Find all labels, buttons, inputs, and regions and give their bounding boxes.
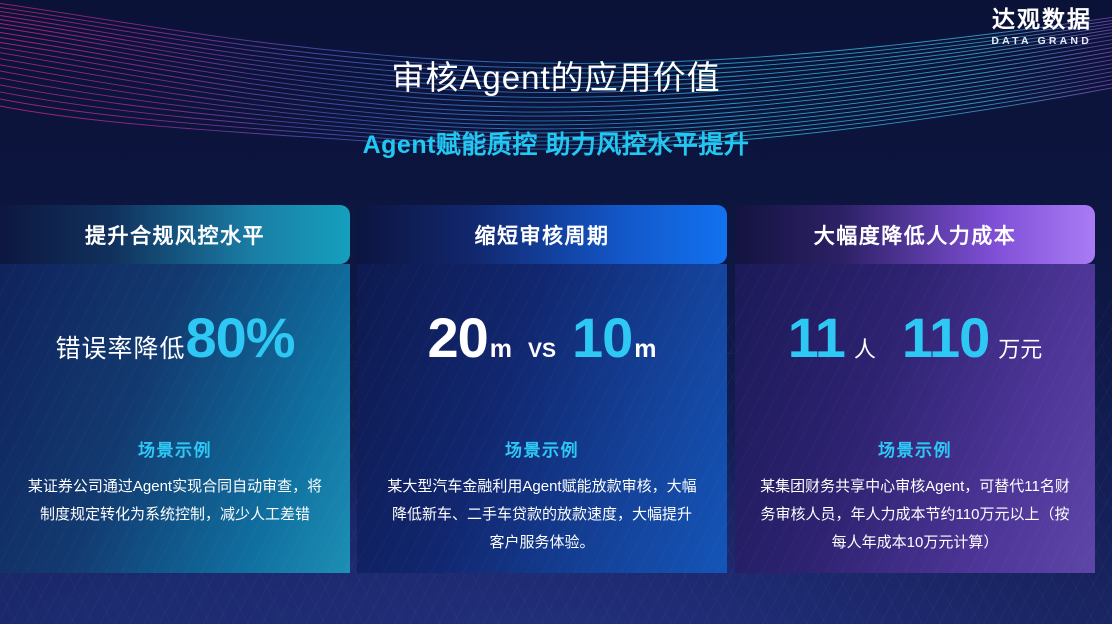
brand-logo: 达观数据 DATA GRAND xyxy=(991,8,1092,47)
card-header-labor-cost: 大幅度降低人力成本 xyxy=(735,205,1095,264)
card-body-labor-cost: 11 人 110 万元 场景示例 某集团财务共享中心审核Agent，可替代11名… xyxy=(735,264,1095,573)
scene-text: 某集团财务共享中心审核Agent，可替代11名财务审核人员，年人力成本节约110… xyxy=(735,473,1095,557)
metric-before-unit: m xyxy=(490,335,512,364)
card-header-compliance-risk: 提升合规风控水平 xyxy=(0,205,350,264)
card-body-compliance-risk: 错误率降低 80% 场景示例 某证券公司通过Agent实现合同自动审查，将制度规… xyxy=(0,264,350,573)
metric-label: 错误率降低 xyxy=(55,329,185,365)
scene-block: 场景示例 某证券公司通过Agent实现合同自动审查，将制度规定转化为系统控制，减… xyxy=(0,436,350,529)
metric-headcount-unit: 人 xyxy=(854,332,876,364)
metric-cost-unit: 万元 xyxy=(998,332,1042,364)
metric-labor-savings: 11 人 110 万元 xyxy=(735,310,1095,366)
metric-separator: VS xyxy=(528,339,556,363)
metric-cycle-comparison: 20 m VS 10 m xyxy=(357,310,727,366)
card-review-cycle: 缩短审核周期 20 m VS 10 m 场景示例 某大型汽车金融利用Agent赋… xyxy=(357,205,727,573)
scene-title: 场景示例 xyxy=(357,436,727,461)
metric-cost-value: 110 xyxy=(902,310,989,366)
scene-text: 某证券公司通过Agent实现合同自动审查，将制度规定转化为系统控制，减少人工差错 xyxy=(0,473,350,529)
metric-value: 80% xyxy=(185,310,294,366)
metric-error-rate: 错误率降低 80% xyxy=(0,310,350,366)
card-body-review-cycle: 20 m VS 10 m 场景示例 某大型汽车金融利用Agent赋能放款审核，大… xyxy=(357,264,727,573)
metric-before-value: 20 xyxy=(427,310,487,366)
slide-canvas: 达观数据 DATA GRAND 审核Agent的应用价值 Agent赋能质控 助… xyxy=(0,0,1112,624)
scene-block: 场景示例 某大型汽车金融利用Agent赋能放款审核，大幅降低新车、二手车贷款的放… xyxy=(357,436,727,557)
page-subtitle: Agent赋能质控 助力风控水平提升 xyxy=(0,125,1112,161)
brand-logo-cn: 达观数据 xyxy=(991,8,1092,31)
brand-logo-en: DATA GRAND xyxy=(991,36,1092,47)
card-title: 大幅度降低人力成本 xyxy=(814,220,1017,250)
scene-title: 场景示例 xyxy=(0,436,350,461)
scene-text: 某大型汽车金融利用Agent赋能放款审核，大幅降低新车、二手车贷款的放款速度，大… xyxy=(357,473,727,557)
metric-after-unit: m xyxy=(634,335,656,364)
card-compliance-risk: 提升合规风控水平 错误率降低 80% 场景示例 某证券公司通过Agent实现合同… xyxy=(0,205,350,573)
card-title: 缩短审核周期 xyxy=(475,220,610,250)
card-labor-cost: 大幅度降低人力成本 11 人 110 万元 场景示例 某集团财务共享中心审核Ag… xyxy=(735,205,1095,573)
metric-after-value: 10 xyxy=(572,310,632,366)
scene-title: 场景示例 xyxy=(735,436,1095,461)
page-title: 审核Agent的应用价值 xyxy=(0,51,1112,99)
scene-block: 场景示例 某集团财务共享中心审核Agent，可替代11名财务审核人员，年人力成本… xyxy=(735,436,1095,557)
value-cards-row: 提升合规风控水平 错误率降低 80% 场景示例 某证券公司通过Agent实现合同… xyxy=(0,205,1112,573)
metric-headcount-value: 11 xyxy=(788,310,845,366)
card-title: 提升合规风控水平 xyxy=(85,220,265,250)
card-header-review-cycle: 缩短审核周期 xyxy=(357,205,727,264)
